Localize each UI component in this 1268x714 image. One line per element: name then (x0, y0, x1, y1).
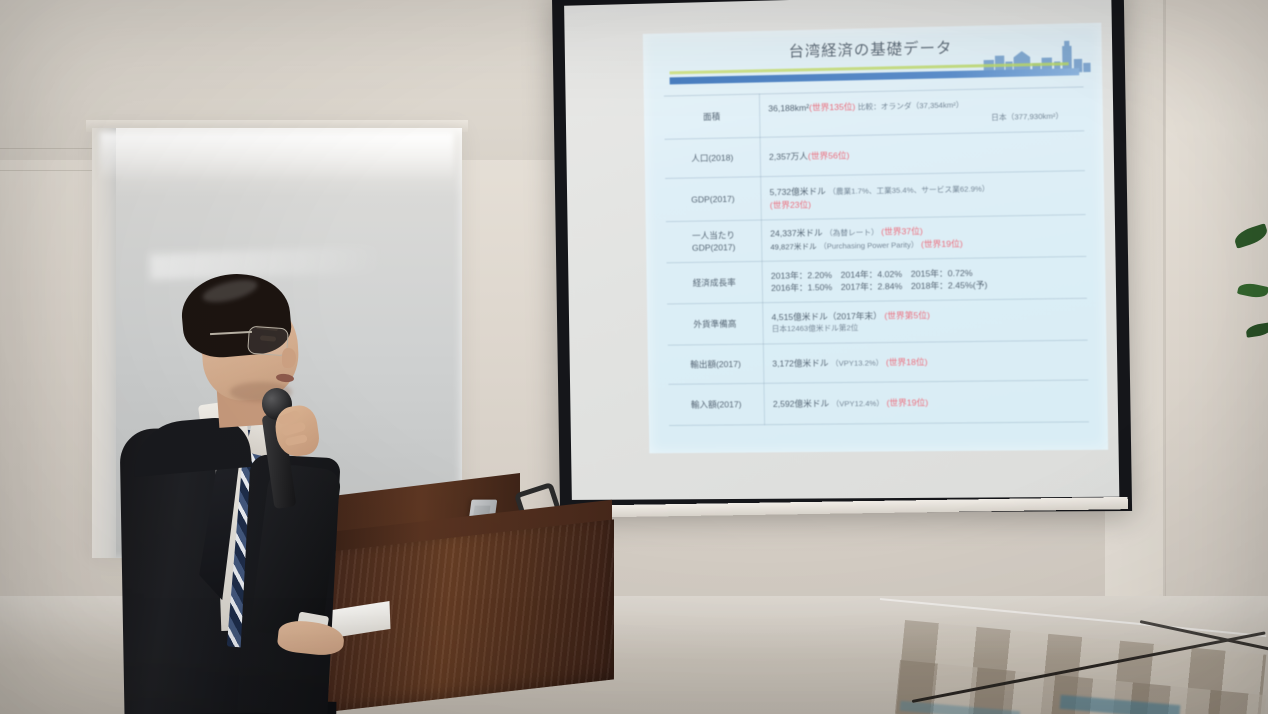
value-note: （VPY13.2%） (831, 358, 884, 368)
value-main: 5,732億米ドル (769, 186, 825, 197)
row-label: 輸出額(2017) (668, 344, 764, 384)
value-rank: (世界第5位) (884, 310, 930, 321)
projection-screen-frame: 台湾経済の基礎データ (552, 0, 1132, 514)
presentation-slide: 台湾経済の基礎データ (643, 23, 1108, 454)
row-value: 36,188km²(世界135位) 比較：オランダ（37,354km²） 日本（… (759, 87, 1084, 137)
row-value: 2,357万人(世界56位) (760, 131, 1085, 177)
value-note: （農業1.7%、工業35.4%、サービス業62.9%） (828, 184, 989, 196)
table-row: 外貨準備高 4,515億米ドル（2017年末） (世界第5位) 日本12463億… (667, 298, 1088, 345)
nose (282, 348, 296, 368)
value-main: 2,592億米ドル (773, 398, 829, 409)
row-value: 24,337米ドル （為替レート） (世界37位) 49,827米ドル （Pur… (761, 215, 1086, 262)
value-note: 日本12463億米ドル第2位 (772, 319, 1084, 335)
value-note: 比較：オランダ（37,354km²） (858, 100, 964, 111)
table-row: 輸出額(2017) 3,172億米ドル （VPY13.2%） (世界18位) (668, 340, 1089, 384)
table-row: 輸入額(2017) 2,592億米ドル （VPY12.4%） (世界19位) (668, 380, 1089, 426)
table-row: 一人当たり GDP(2017) 24,337米ドル （為替レート） (世界37位… (666, 215, 1086, 263)
presenter (110, 270, 410, 714)
row-label: 経済成長率 (666, 261, 762, 304)
value-rank: (世界23位) (770, 199, 811, 210)
value-rank: (世界19位) (886, 397, 928, 408)
wall-seam (0, 170, 95, 171)
value-main: 49,827米ドル (770, 242, 816, 252)
row-label: GDP(2017) (665, 177, 761, 222)
value-note: （VPY12.4%） (832, 398, 885, 408)
value-main: 4,515億米ドル（2017年末） (771, 311, 882, 323)
value-rank: (世界19位) (921, 238, 963, 249)
potted-plant (1232, 228, 1268, 378)
taiwan-economy-table: 面積 36,188km²(世界135位) 比較：オランダ（37,354km²） … (664, 86, 1089, 426)
row-label: 人口(2018) (665, 137, 761, 178)
value-rank: (世界37位) (881, 226, 923, 237)
wall-corner-edge (1163, 0, 1166, 600)
value-main: 36,188km² (768, 103, 809, 114)
value-note: 日本（377,930km²） (991, 111, 1063, 122)
value-rank: (世界18位) (886, 356, 928, 367)
value-rank: (世界56位) (808, 150, 850, 161)
screenshot-root: 台湾経済の基礎データ (0, 0, 1268, 714)
table-row: 経済成長率 2013年：2.20% 2014年：4.02% 2015年：0.72… (666, 256, 1086, 304)
value-main: 2,357万人 (769, 151, 808, 162)
table-row: GDP(2017) 5,732億米ドル （農業1.7%、工業35.4%、サービス… (665, 171, 1085, 222)
row-value: 5,732億米ドル （農業1.7%、工業35.4%、サービス業62.9%） (世… (761, 171, 1086, 220)
value-main: 24,337米ドル (770, 228, 823, 239)
plant-leaf-icon (1237, 281, 1268, 300)
row-label: 輸入額(2017) (668, 383, 764, 425)
row-label: 一人当たり GDP(2017) (666, 220, 762, 263)
finger (285, 434, 308, 446)
row-value: 3,172億米ドル （VPY13.2%） (世界18位) (763, 340, 1088, 383)
row-value: 2,592億米ドル （VPY12.4%） (世界19位) (764, 380, 1089, 425)
row-value: 2013年：2.20% 2014年：4.02% 2015年：0.72% 2016… (762, 256, 1087, 302)
row-value: 4,515億米ドル（2017年末） (世界第5位) 日本12463億米ドル第2位 (763, 298, 1088, 344)
plant-leaf-icon (1245, 322, 1268, 338)
projection-screen-surface: 台湾経済の基礎データ (564, 0, 1119, 500)
row-label: 外貨準備高 (667, 303, 763, 345)
value-note: （Purchasing Power Parity） (819, 240, 919, 251)
value-note: （為替レート） (825, 228, 879, 238)
cove-light-glow (100, 132, 454, 182)
row-label: 面積 (664, 94, 760, 139)
value-main: 3,172億米ドル (772, 357, 828, 368)
value-rank: (世界135位) (809, 102, 855, 113)
